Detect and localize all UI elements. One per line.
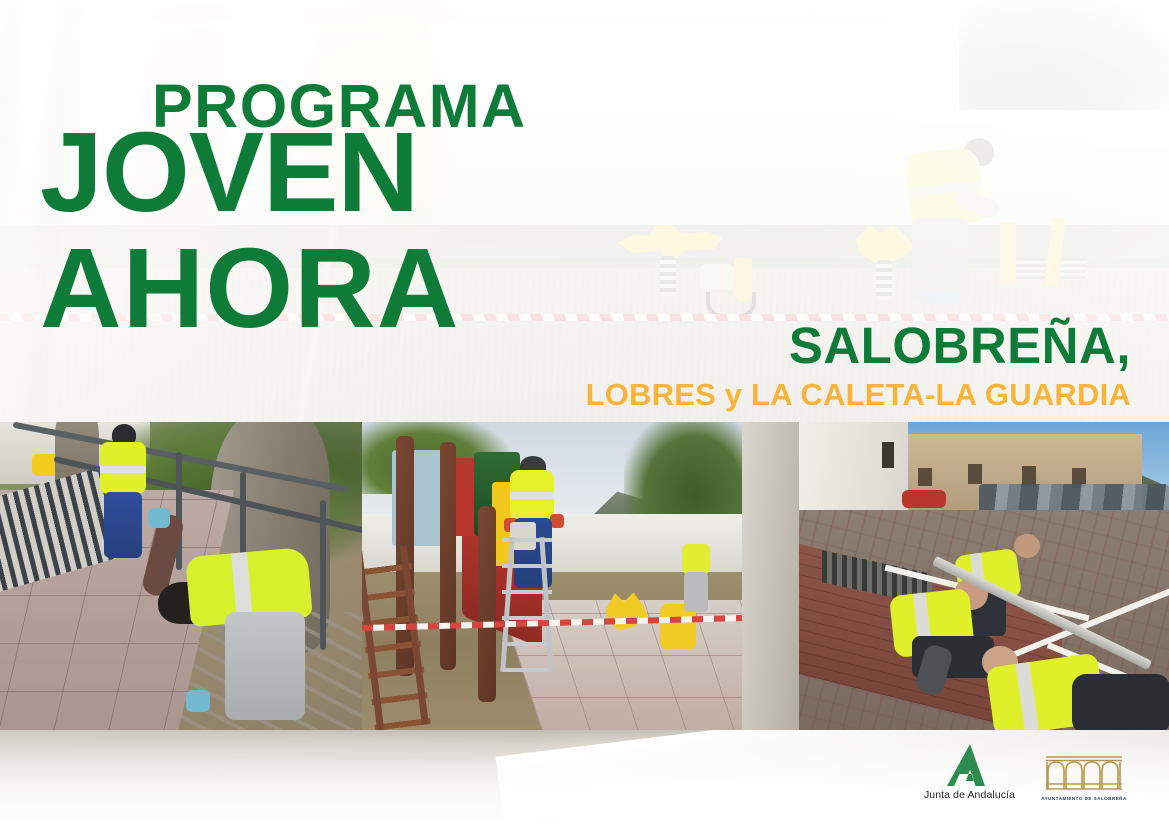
p3-shuttered-window: [882, 442, 894, 468]
p2-worker2-hivis-vest: [682, 544, 710, 574]
ayuntamiento-label: AYUNTAMIENTO DE SALOBREÑA: [1039, 796, 1129, 801]
p2-worker-hivis-shirt: [510, 470, 554, 522]
p3-worker3-body: [1072, 674, 1169, 730]
junta-label: Junta de Andalucía: [922, 789, 1017, 801]
photo-path-maintenance: [0, 422, 362, 730]
headline-ahora: AHORA: [40, 232, 459, 345]
p1-worker1-hivis-vest: [100, 442, 146, 494]
p3-foreground-column: [742, 422, 799, 730]
p2-play-post-2: [440, 442, 456, 670]
photo-strip: [0, 422, 1169, 730]
logo-row: Junta de Andalucía: [922, 744, 1129, 801]
location-primary: SALOBREÑA,: [789, 320, 1131, 371]
ayuntamiento-arcade-icon: [1039, 751, 1129, 793]
logo-junta-de-andalucia: Junta de Andalucía: [922, 744, 1017, 801]
junta-andalucia-icon: [922, 744, 1017, 786]
location-secondary: LOBRES y LA CALETA-LA GUARDIA: [586, 379, 1131, 410]
p2-worker-glove-right: [550, 514, 564, 528]
p1-worker2-glove-lower: [186, 690, 210, 712]
p2-step-ladder: [502, 537, 552, 672]
headline-block: PROGRAMA JOVEN AHORA SALOBREÑA, LOBRES y…: [0, 0, 1169, 430]
p3-building-window-2: [968, 464, 982, 484]
logo-ayuntamiento-salobrena: AYUNTAMIENTO DE SALOBREÑA: [1039, 751, 1129, 801]
p3-building-window-1: [918, 468, 932, 486]
poster-root: PROGRAMA JOVEN AHORA SALOBREÑA, LOBRES y…: [0, 0, 1169, 827]
p1-worker2-legs: [225, 612, 305, 720]
p3-worker1-head: [1014, 534, 1040, 558]
p1-rail-post-3: [320, 500, 326, 650]
p3-building-window-3: [1022, 466, 1036, 486]
p2-play-post-3: [478, 506, 496, 702]
photo-street-grates: [742, 422, 1169, 730]
p1-worker1-legs: [104, 492, 142, 558]
headline-joven: JOVEN: [40, 116, 418, 229]
p1-worker2-glove-upper: [148, 508, 170, 528]
photo-playground-repair: [362, 422, 742, 730]
p2-worker2-legs: [684, 572, 708, 612]
p3-red-car: [902, 490, 946, 508]
